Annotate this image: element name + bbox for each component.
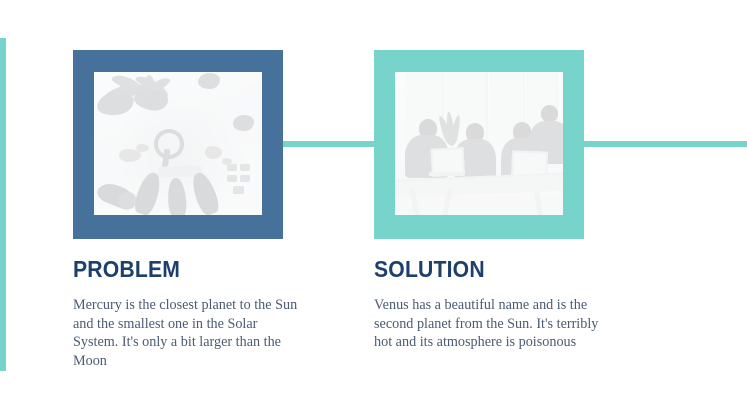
slide-canvas: PROBLEM Mercury is the closest planet to…: [0, 0, 747, 420]
heading-problem: PROBLEM: [73, 256, 286, 282]
connector-line-middle: [278, 141, 379, 147]
card-solution[interactable]: [374, 50, 584, 239]
text-block-solution: SOLUTION Venus has a beautiful name and …: [374, 256, 606, 352]
photo-flat-lay-desk: [94, 72, 262, 215]
connector-line-right: [580, 141, 747, 147]
left-accent-bar: [0, 38, 6, 371]
body-solution: Venus has a beautiful name and is the se…: [374, 296, 602, 352]
body-problem: Mercury is the closest planet to the Sun…: [73, 296, 301, 370]
card-problem[interactable]: [73, 50, 283, 239]
photo-frame-solution: [374, 50, 584, 239]
photo-frame-problem: [73, 50, 283, 239]
photo-team-meeting: [395, 72, 563, 215]
heading-solution: SOLUTION: [374, 256, 587, 282]
text-block-problem: PROBLEM Mercury is the closest planet to…: [73, 256, 305, 370]
